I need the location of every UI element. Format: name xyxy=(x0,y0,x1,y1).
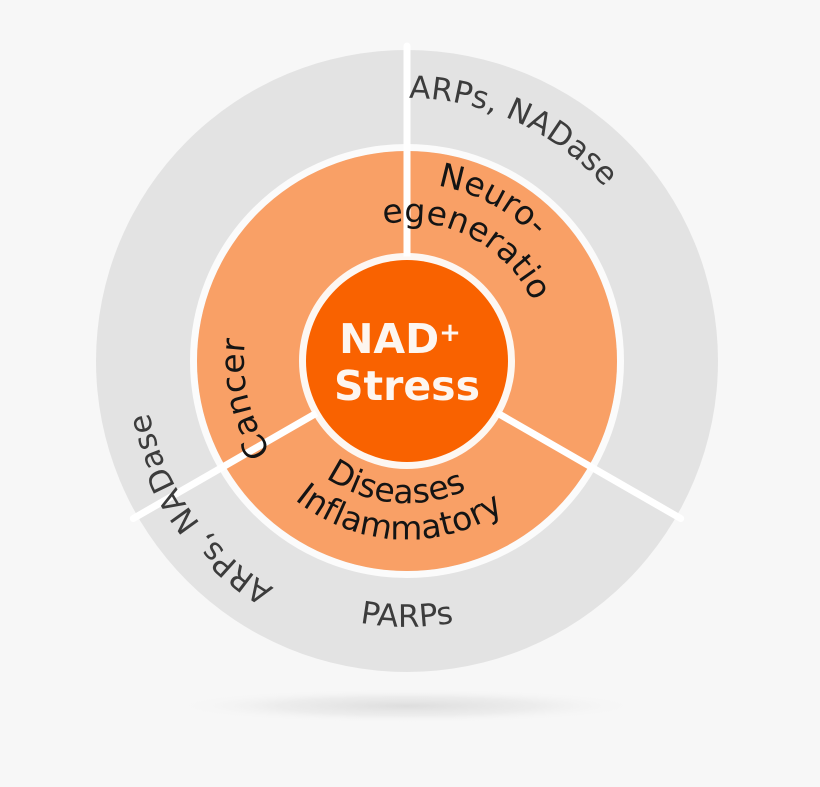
ground-shadow xyxy=(172,689,642,723)
diagram-canvas: PARPs, NADases PARPs, NADases PARPs Canc… xyxy=(0,0,820,787)
center-label-plus: + xyxy=(439,318,461,348)
center-label-line2: Stress xyxy=(334,362,480,410)
outer-label-inflammatory: PARPs xyxy=(359,595,456,635)
center-label-nad: NAD xyxy=(339,315,439,363)
nad-stress-diagram: PARPs, NADases PARPs, NADases PARPs Canc… xyxy=(0,0,820,787)
